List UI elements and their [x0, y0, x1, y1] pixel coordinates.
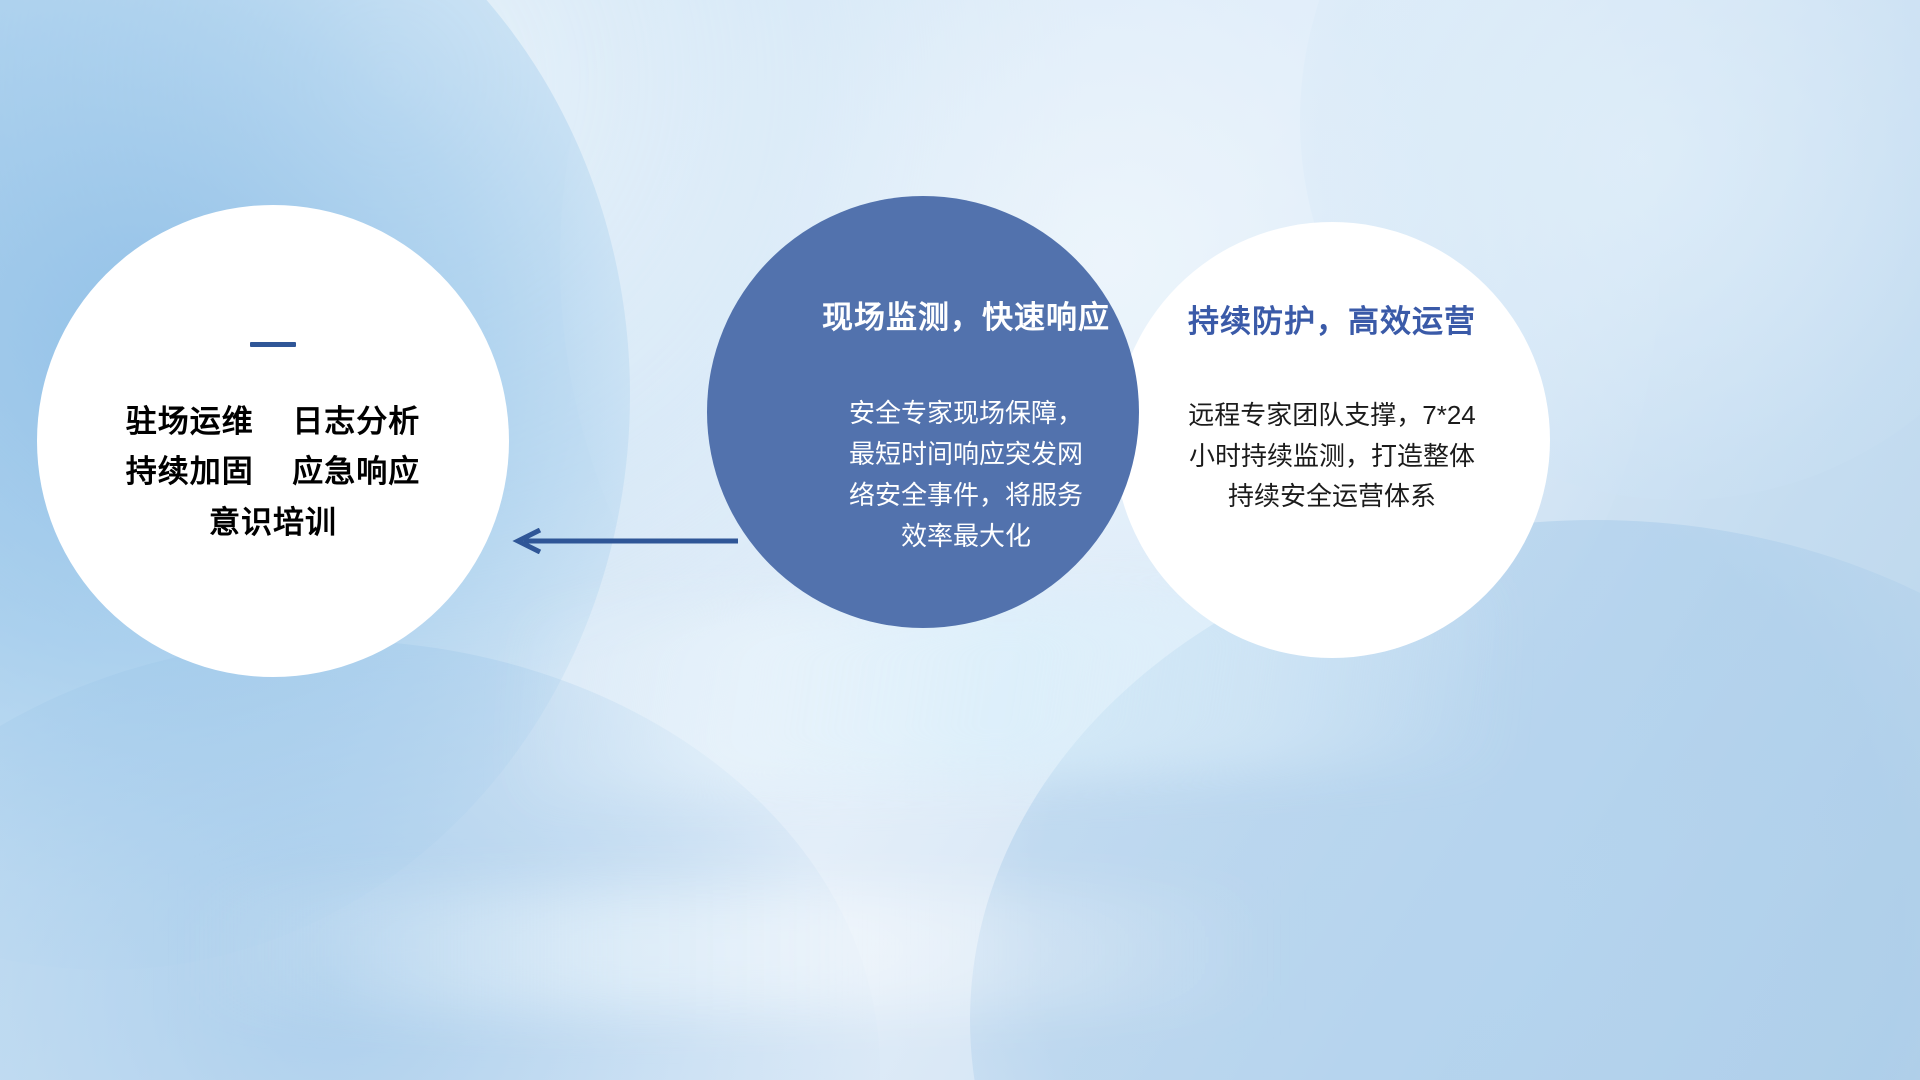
description-line: 小时持续监测，打造整体	[1188, 436, 1476, 477]
right-circle-content: 持续防护，高效运营 远程专家团队支撑，7*24 小时持续监测，打造整体 持续安全…	[1114, 222, 1550, 658]
list-item: 意识培训	[126, 498, 420, 548]
middle-circle-content: 现场监测，快速响应 安全专家现场保障， 最短时间响应突发网 络安全事件，将服务 …	[707, 196, 1139, 628]
right-circle-description: 远程专家团队支撑，7*24 小时持续监测，打造整体 持续安全运营体系	[1188, 395, 1476, 517]
dash-divider-icon	[250, 342, 296, 347]
right-circle-title: 持续防护，高效运营	[1188, 296, 1476, 341]
description-line: 持续安全运营体系	[1188, 476, 1476, 517]
description-line: 远程专家团队支撑，7*24	[1188, 395, 1476, 436]
description-line: 络安全事件，将服务	[849, 475, 1083, 516]
left-arrow-icon	[500, 528, 740, 554]
list-item: 持续加固 应急响应	[126, 447, 420, 497]
middle-circle-description: 安全专家现场保障， 最短时间响应突发网 络安全事件，将服务 效率最大化	[849, 393, 1083, 557]
left-circle-content: 驻场运维 日志分析 持续加固 应急响应 意识培训	[37, 205, 509, 677]
slide-canvas: 驻场运维 日志分析 持续加固 应急响应 意识培训 现场监测，快速响应 安全专家现…	[0, 0, 1920, 1080]
list-item: 驻场运维 日志分析	[126, 397, 420, 447]
left-circle-service-list: 驻场运维 日志分析 持续加固 应急响应 意识培训	[126, 397, 420, 548]
middle-circle-title: 现场监测，快速响应	[822, 292, 1110, 337]
background-bottom-glow	[180, 890, 1280, 1010]
description-line: 最短时间响应突发网	[849, 434, 1083, 475]
description-line: 安全专家现场保障，	[849, 393, 1083, 434]
description-line: 效率最大化	[849, 516, 1083, 557]
